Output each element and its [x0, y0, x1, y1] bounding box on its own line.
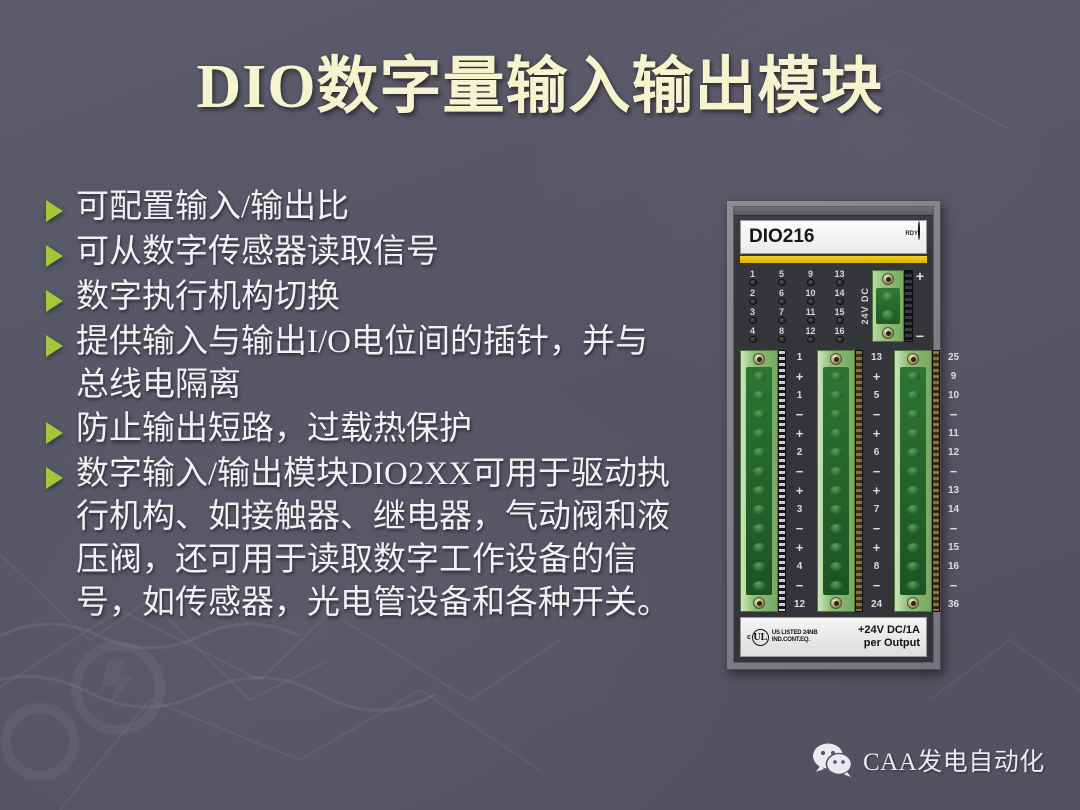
terminal-pin — [907, 581, 920, 590]
led-number: 7 — [773, 307, 790, 317]
bullet-text: 数字执行机构切换 — [76, 276, 340, 319]
screw-icon — [830, 353, 842, 365]
terminal-label: + — [873, 371, 881, 382]
terminal-pin — [830, 410, 843, 419]
terminal-label: − — [950, 523, 958, 534]
terminal-label: − — [796, 466, 804, 477]
wechat-account-name: CAA发电自动化 — [863, 742, 1045, 778]
ready-label: RDY — [905, 231, 918, 237]
terminal-pin — [907, 562, 920, 571]
terminal-pin — [882, 292, 894, 302]
led-number: 2 — [744, 288, 761, 298]
power-label: 24V DC — [860, 287, 870, 325]
led-number: 11 — [802, 307, 819, 317]
terminal-label: − — [796, 523, 804, 534]
ul-logo-icon: UL — [752, 629, 769, 646]
terminal-group: 25 9 10 − 11 12 − 13 14 − 15 16 − 36 — [894, 350, 967, 612]
list-item: 防止输出短路，过载热保护 — [40, 408, 680, 451]
terminal-label: 36 — [948, 599, 959, 610]
terminal-pin — [753, 562, 766, 571]
bullet-triangle-icon — [40, 245, 68, 267]
power-connector: 24V DC + − — [860, 269, 927, 343]
bullet-text: 可从数字传感器读取信号 — [76, 231, 439, 274]
led-icon — [778, 298, 786, 305]
led-icon — [778, 336, 786, 343]
list-item: 可从数字传感器读取信号 — [40, 231, 680, 274]
terminal-label: 1 — [797, 352, 803, 363]
terminal-label: 25 — [948, 352, 959, 363]
terminal-pin — [907, 410, 920, 419]
comb-strip — [778, 350, 786, 612]
status-led-panel: 1 2 3 4 5 6 7 8 9 10 11 — [740, 269, 848, 343]
terminal-body — [823, 367, 849, 595]
bullet-list: 可配置输入/输出比 可从数字传感器读取信号 数字执行机构切换 提供输入与输出I/… — [40, 186, 680, 627]
rating-per-output: per Output — [858, 637, 920, 650]
led-number: 14 — [831, 288, 848, 298]
bullet-text: 提供输入与输出I/O电位间的插针，并与总线电隔离 — [76, 321, 680, 407]
terminal-pin — [830, 372, 843, 381]
terminal-body — [900, 367, 926, 595]
ul-text-block: US LISTED 24NB IND.CONT.EQ. — [772, 630, 818, 644]
led-number: 3 — [744, 307, 761, 317]
bullet-triangle-icon — [40, 335, 68, 357]
led-column: 13 14 15 16 — [831, 269, 848, 343]
wechat-watermark: CAA发电自动化 — [812, 742, 1045, 778]
list-item: 可配置输入/输出比 — [40, 186, 680, 229]
power-polarity-labels: + − — [913, 270, 927, 342]
module-yellow-stripe — [740, 256, 927, 263]
led-icon — [807, 336, 815, 343]
terminal-number-column: 25 9 10 − 11 12 − 13 14 − 15 16 − 36 — [940, 350, 967, 612]
terminal-pin — [830, 486, 843, 495]
led-number: 6 — [773, 288, 790, 298]
module-rating-label: +24V DC/1A per Output — [858, 624, 920, 650]
module-model-label: DIO216 — [741, 226, 814, 248]
terminal-label: 10 — [948, 390, 959, 401]
ul-c-label: c — [747, 634, 751, 641]
terminal-connector — [894, 350, 932, 612]
terminal-label: 8 — [874, 561, 880, 572]
terminal-pin — [907, 486, 920, 495]
terminal-label: 11 — [948, 428, 959, 439]
led-icon — [749, 279, 757, 286]
bullet-triangle-icon — [40, 290, 68, 312]
led-number: 5 — [773, 269, 790, 279]
terminal-label: + — [873, 428, 881, 439]
terminal-label: 6 — [874, 447, 880, 458]
led-icon — [749, 298, 757, 305]
terminal-pin — [907, 429, 920, 438]
screw-icon — [830, 597, 842, 609]
led-icon — [807, 298, 815, 305]
led-column: 1 2 3 4 — [744, 269, 761, 343]
terminal-label: 12 — [794, 599, 805, 610]
plus-label: + — [916, 270, 924, 282]
terminal-label: 2 — [797, 447, 803, 458]
terminal-pin — [753, 391, 766, 400]
terminal-pin — [830, 467, 843, 476]
power-terminal-block — [872, 270, 904, 342]
terminal-label: 7 — [874, 504, 880, 515]
terminal-number-column: 1 + 1 − + 2 − + 3 − + 4 − 12 — [786, 350, 813, 612]
terminal-block-area: 1 + 1 − + 2 − + 3 − + 4 − 12 — [740, 350, 927, 612]
terminal-pin — [753, 372, 766, 381]
terminal-label: 4 — [797, 561, 803, 572]
terminal-label: + — [873, 485, 881, 496]
comb-strip — [855, 350, 863, 612]
led-icon — [778, 279, 786, 286]
list-item: 数字输入/输出模块DIO2XX可用于驱动执行机构、如接触器、继电器，气动阀和液压… — [40, 453, 680, 625]
terminal-label: − — [950, 580, 958, 591]
module-nameplate: DIO216 RDY — [740, 220, 927, 254]
terminal-pin — [907, 372, 920, 381]
terminal-label: 1 — [797, 390, 803, 401]
slide-canvas: DIO数字量输入输出模块 可配置输入/输出比 可从数字传感器读取信号 数字执行机… — [0, 0, 1080, 810]
terminal-group: 13 + 5 − + 6 − + 7 − + 8 − 24 — [817, 350, 890, 612]
terminal-pin — [830, 562, 843, 571]
terminal-label: + — [796, 428, 804, 439]
led-icon — [807, 279, 815, 286]
ul-category-line: IND.CONT.EQ. — [772, 637, 818, 644]
led-number: 8 — [773, 326, 790, 336]
ul-listing-line: US LISTED 24NB — [772, 630, 818, 637]
led-icon — [836, 279, 844, 286]
terminal-label: 15 — [948, 542, 959, 553]
bullet-triangle-icon — [40, 467, 68, 489]
screw-icon — [882, 327, 894, 339]
power-terminal-body — [876, 288, 900, 324]
terminal-pin — [753, 543, 766, 552]
bullet-text: 防止输出短路，过载热保护 — [76, 408, 472, 451]
led-icon — [778, 317, 786, 324]
terminal-label: − — [873, 580, 881, 591]
terminal-label: 14 — [948, 504, 959, 515]
rating-voltage: +24V DC/1A — [858, 624, 920, 637]
led-number: 15 — [831, 307, 848, 317]
led-number: 13 — [831, 269, 848, 279]
slide-title: DIO数字量输入输出模块 — [0, 52, 1080, 123]
terminal-label: + — [873, 542, 881, 553]
led-icon — [749, 336, 757, 343]
led-icon — [836, 317, 844, 324]
led-number: 16 — [831, 326, 848, 336]
bullet-text: 数字输入/输出模块DIO2XX可用于驱动执行机构、如接触器、继电器，气动阀和液压… — [76, 453, 680, 625]
module-bottom-label: c UL US LISTED 24NB IND.CONT.EQ. +24V DC… — [740, 617, 927, 657]
terminal-pin — [830, 448, 843, 457]
led-number: 4 — [744, 326, 761, 336]
comb-strip — [932, 350, 940, 612]
terminal-label: 9 — [951, 371, 957, 382]
led-icon — [836, 298, 844, 305]
ready-led-icon — [918, 221, 920, 240]
screw-icon — [882, 273, 894, 285]
module-top-bar — [734, 207, 933, 216]
terminal-pin — [907, 448, 920, 457]
ul-certification-mark: c UL US LISTED 24NB IND.CONT.EQ. — [747, 629, 817, 646]
led-icon — [749, 317, 757, 324]
terminal-connector — [740, 350, 778, 612]
terminal-pin — [907, 543, 920, 552]
power-comb-strip — [904, 270, 913, 342]
terminal-pin — [753, 410, 766, 419]
terminal-label: − — [950, 409, 958, 420]
led-number: 12 — [802, 326, 819, 336]
terminal-label: − — [796, 409, 804, 420]
terminal-pin — [830, 391, 843, 400]
dio-module-image: DIO216 RDY 1 2 3 4 5 6 — [726, 200, 941, 670]
terminal-label: + — [796, 485, 804, 496]
terminal-pin — [830, 429, 843, 438]
led-number: 1 — [744, 269, 761, 279]
led-number: 9 — [802, 269, 819, 279]
terminal-pin — [753, 467, 766, 476]
terminal-label: 16 — [948, 561, 959, 572]
terminal-pin — [830, 524, 843, 533]
terminal-label: − — [873, 523, 881, 534]
terminal-pin — [907, 524, 920, 533]
screw-icon — [753, 597, 765, 609]
terminal-group: 1 + 1 − + 2 − + 3 − + 4 − 12 — [740, 350, 813, 612]
terminal-label: + — [796, 371, 804, 382]
list-item: 数字执行机构切换 — [40, 276, 680, 319]
terminal-label: 13 — [871, 352, 882, 363]
screw-icon — [907, 353, 919, 365]
terminal-connector — [817, 350, 855, 612]
led-column: 5 6 7 8 — [773, 269, 790, 343]
terminal-pin — [753, 505, 766, 514]
terminal-label: + — [796, 542, 804, 553]
screw-icon — [753, 353, 765, 365]
terminal-pin — [907, 467, 920, 476]
terminal-label: 24 — [871, 599, 882, 610]
bullet-triangle-icon — [40, 422, 68, 444]
terminal-pin — [907, 505, 920, 514]
list-item: 提供输入与输出I/O电位间的插针，并与总线电隔离 — [40, 321, 680, 407]
terminal-number-column: 13 + 5 − + 6 − + 7 − + 8 − 24 — [863, 350, 890, 612]
bullet-text: 可配置输入/输出比 — [76, 186, 349, 229]
led-icon — [836, 336, 844, 343]
terminal-label: − — [873, 409, 881, 420]
terminal-label: 3 — [797, 504, 803, 515]
screw-icon — [907, 597, 919, 609]
ready-indicator: RDY — [905, 222, 920, 240]
module-upper-row: 1 2 3 4 5 6 7 8 9 10 11 — [740, 269, 927, 343]
terminal-pin — [753, 448, 766, 457]
terminal-pin — [907, 391, 920, 400]
minus-label: − — [916, 330, 924, 342]
terminal-pin — [753, 486, 766, 495]
terminal-pin — [753, 524, 766, 533]
terminal-label: 5 — [874, 390, 880, 401]
terminal-pin — [830, 581, 843, 590]
terminal-label: 12 — [948, 447, 959, 458]
terminal-pin — [753, 429, 766, 438]
terminal-label: 13 — [948, 485, 959, 496]
terminal-pin — [753, 581, 766, 590]
led-column: 9 10 11 12 — [802, 269, 819, 343]
bullet-triangle-icon — [40, 200, 68, 222]
terminal-body — [746, 367, 772, 595]
terminal-pin — [830, 505, 843, 514]
led-number: 10 — [802, 288, 819, 298]
terminal-label: − — [873, 466, 881, 477]
terminal-pin — [830, 543, 843, 552]
wechat-icon — [812, 743, 854, 777]
terminal-label: − — [950, 466, 958, 477]
led-icon — [807, 317, 815, 324]
terminal-label: − — [796, 580, 804, 591]
terminal-pin — [882, 310, 894, 320]
